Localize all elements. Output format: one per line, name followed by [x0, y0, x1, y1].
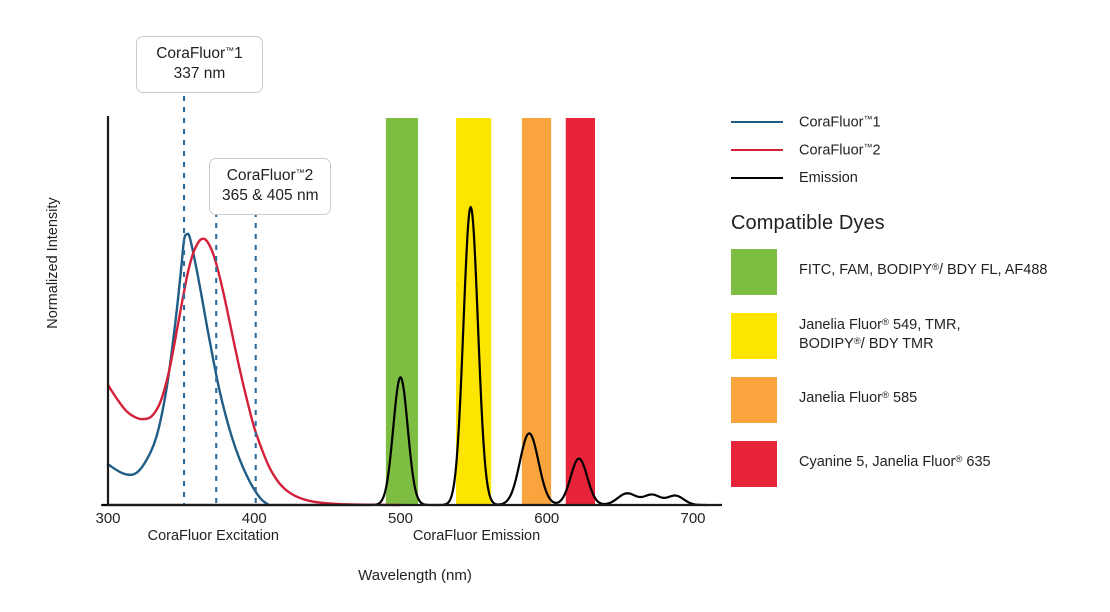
dye-legend-item-1: Janelia Fluor® 549, TMR,BODIPY®/ BDY TMR: [731, 313, 1091, 359]
x-axis-title: Wavelength (nm): [0, 567, 830, 584]
x-tick-700: 700: [663, 510, 723, 527]
registered-symbol: ®: [955, 454, 962, 465]
x-axis-section-excitation: CoraFluor Excitation: [63, 528, 363, 544]
dye-band-1: [456, 118, 491, 505]
dye-label: Janelia Fluor® 585: [799, 377, 917, 408]
dye-label: Janelia Fluor® 549, TMR,BODIPY®/ BDY TMR: [799, 313, 960, 354]
x-tick-300: 300: [78, 510, 138, 527]
fluorescence-spectra-figure: CoraFluor™1 337 nm CoraFluor™2 365 & 405…: [0, 0, 1110, 612]
dye-legend-item-2: Janelia Fluor® 585: [731, 377, 1091, 423]
legend-item-0: CoraFluor™1: [731, 108, 1091, 136]
dye-label-line1: FITC, FAM, BODIPY®/ BDY FL, AF488: [799, 261, 1047, 280]
callout-corafluor2: CoraFluor™2 365 & 405 nm: [209, 158, 331, 215]
x-tick-600: 600: [517, 510, 577, 527]
legend-item-1: CoraFluor™2: [731, 136, 1091, 164]
dye-label: FITC, FAM, BODIPY®/ BDY FL, AF488: [799, 249, 1047, 280]
dye-band-3: [566, 118, 595, 505]
registered-symbol: ®: [882, 317, 889, 328]
legend-item-label: CoraFluor™2: [799, 142, 881, 159]
legend-series-list: CoraFluor™1CoraFluor™2Emission: [731, 108, 1091, 192]
x-axis-section-emission: CoraFluor Emission: [327, 528, 627, 544]
callout-corafluor2-value: 365 & 405 nm: [222, 186, 318, 206]
legend-panel: CoraFluor™1CoraFluor™2Emission Compatibl…: [731, 108, 1091, 505]
y-axis-title: Normalized Intensity: [45, 168, 61, 358]
registered-symbol: ®: [854, 336, 861, 347]
legend-line-swatch: [731, 121, 783, 123]
compatible-dyes-title: Compatible Dyes: [731, 212, 1091, 235]
legend-line-swatch: [731, 149, 783, 151]
registered-symbol: ®: [882, 390, 889, 401]
dye-legend-item-0: FITC, FAM, BODIPY®/ BDY FL, AF488: [731, 249, 1091, 295]
callout-corafluor1-value: 337 nm: [149, 64, 250, 84]
x-tick-500: 500: [371, 510, 431, 527]
dye-color-swatch: [731, 377, 777, 423]
dye-label-line1: Janelia Fluor® 549, TMR,: [799, 316, 960, 335]
dye-label-line1: Janelia Fluor® 585: [799, 389, 917, 408]
dye-label-line2: BODIPY®/ BDY TMR: [799, 335, 960, 354]
dye-band-2: [522, 118, 551, 505]
dye-color-swatch: [731, 313, 777, 359]
dye-label-line1: Cyanine 5, Janelia Fluor® 635: [799, 453, 991, 472]
callout-corafluor1-title: CoraFluor™1: [149, 44, 250, 64]
registered-symbol: ®: [932, 262, 939, 273]
dye-label: Cyanine 5, Janelia Fluor® 635: [799, 441, 991, 472]
compatible-dyes-list: FITC, FAM, BODIPY®/ BDY FL, AF488Janelia…: [731, 249, 1091, 487]
trademark-symbol: ™: [225, 45, 234, 55]
callout-corafluor1: CoraFluor™1 337 nm: [136, 36, 263, 93]
dye-color-swatch: [731, 441, 777, 487]
dye-color-swatch: [731, 249, 777, 295]
legend-item-label: CoraFluor™1: [799, 114, 881, 131]
callout-corafluor2-title: CoraFluor™2: [222, 166, 318, 186]
legend-item-label: Emission: [799, 170, 858, 186]
dye-legend-item-3: Cyanine 5, Janelia Fluor® 635: [731, 441, 1091, 487]
x-tick-400: 400: [224, 510, 284, 527]
legend-line-swatch: [731, 177, 783, 179]
legend-item-2: Emission: [731, 164, 1091, 192]
trademark-symbol: ™: [296, 167, 305, 177]
curve-corafluor2-excitation: [108, 239, 401, 505]
